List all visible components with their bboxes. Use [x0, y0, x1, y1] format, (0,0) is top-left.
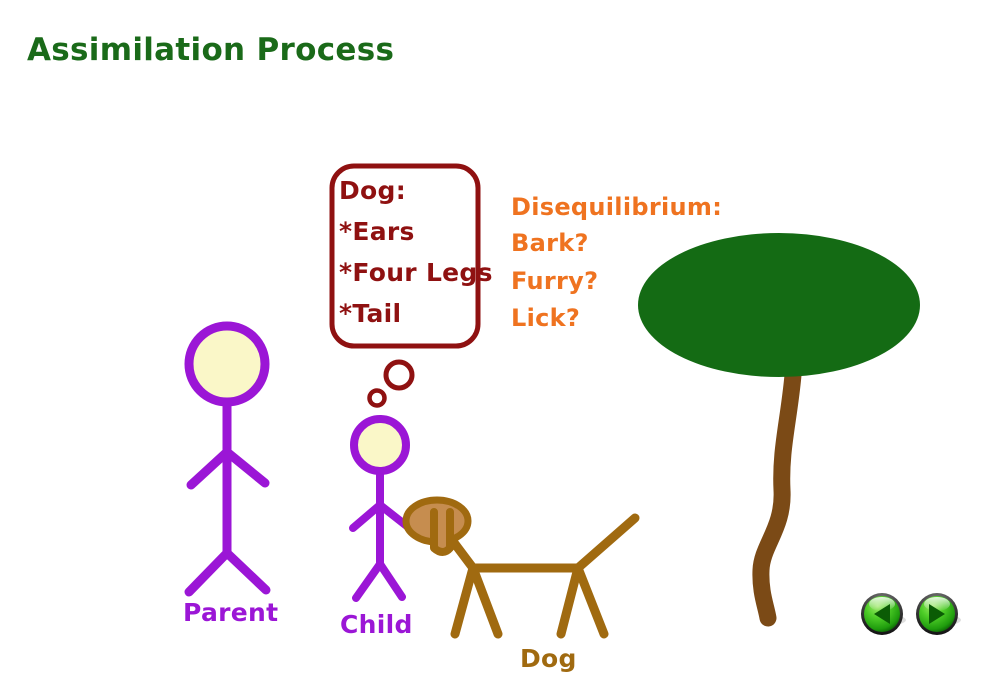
tree-illustration [638, 233, 920, 618]
bubble-line-2: *Four Legs [339, 258, 493, 287]
dog-stick-figure [406, 500, 635, 634]
label-parent: Parent [183, 598, 278, 627]
bubble-line-0: Dog: [339, 176, 406, 205]
disequilibrium-line-1: Bark? [511, 229, 589, 257]
next-slide-button[interactable] [916, 593, 958, 635]
bubble-line-1: *Ears [339, 217, 415, 246]
label-child: Child [340, 610, 413, 639]
slide-artwork [0, 0, 1000, 689]
bubble-line-3: *Tail [339, 299, 401, 328]
page-title: Assimilation Process [27, 32, 394, 68]
disequilibrium-line-3: Lick? [511, 304, 580, 332]
disequilibrium-heading: Disequilibrium: [511, 193, 722, 221]
slide-canvas: Assimilation Process Dog: *Ears *Four Le… [0, 0, 1000, 689]
parent-stick-figure [189, 326, 266, 592]
disequilibrium-line-2: Furry? [511, 267, 598, 295]
label-dog: Dog [520, 644, 577, 673]
previous-slide-button[interactable] [861, 593, 903, 635]
child-stick-figure [353, 419, 408, 598]
